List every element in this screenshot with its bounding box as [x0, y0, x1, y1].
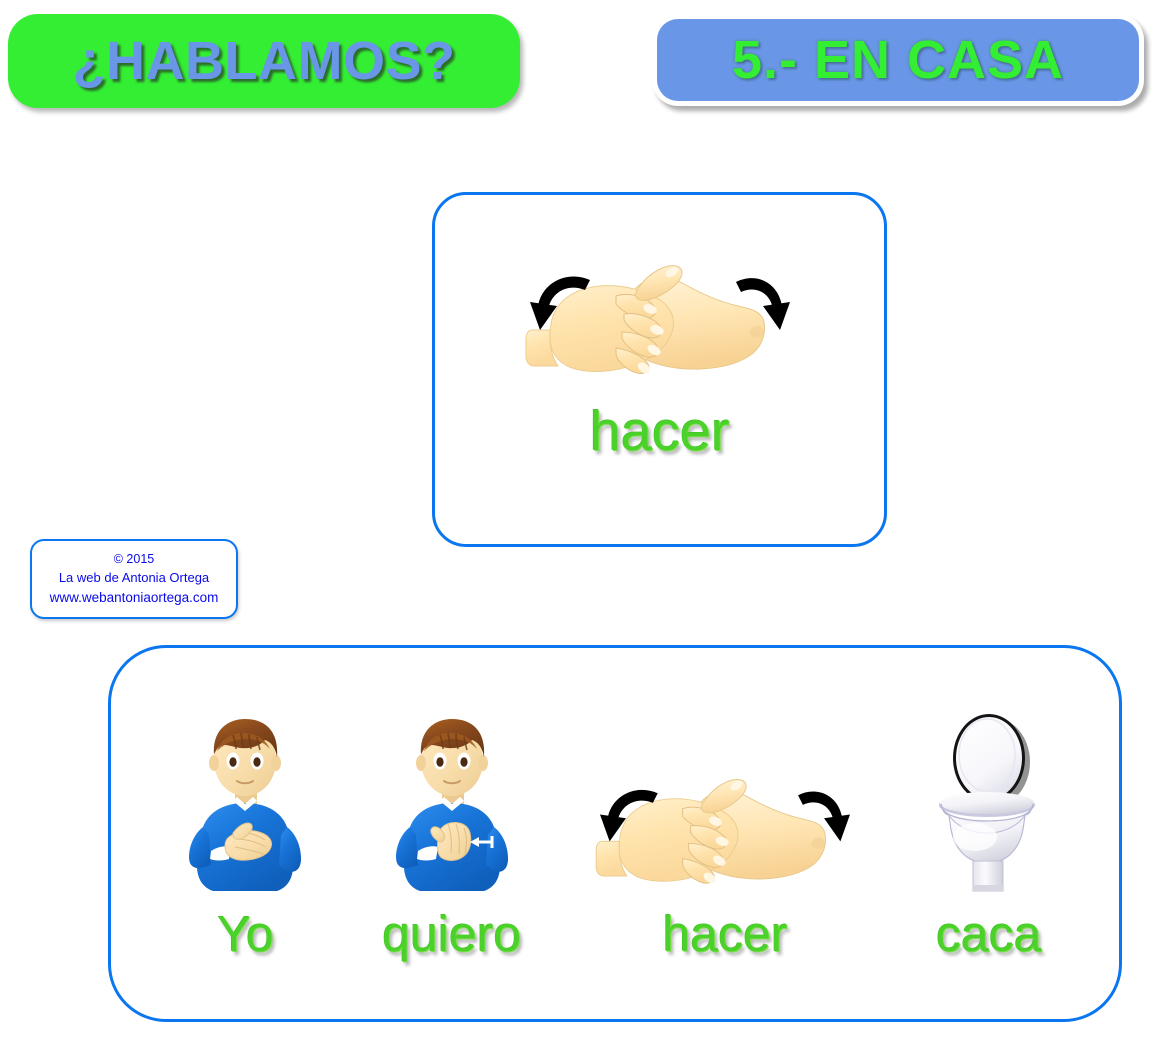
toilet-lid-up-icon	[929, 705, 1049, 901]
vocabulary-card[interactable]: hacer	[432, 192, 887, 547]
two-hands-rotating-svg	[524, 262, 796, 392]
banner-hablamos-label: ¿HABLAMOS?	[73, 30, 456, 92]
vocabulary-card-caption: hacer	[589, 398, 729, 463]
credit-website[interactable]: www.webantoniaortega.com	[50, 588, 219, 607]
two-hands-rotating-icon	[594, 705, 856, 901]
boy-hand-on-chest-arrow-icon	[388, 705, 516, 901]
two-hands-rotating-svg-2	[594, 776, 856, 901]
sentence-cell-caption: Yo	[217, 905, 274, 963]
credit-author: La web de Antonia Ortega	[59, 569, 209, 587]
sentence-cell-caption: caca	[936, 905, 1042, 963]
sentence-cell-caca[interactable]: caca	[929, 705, 1049, 963]
sentence-strip: Yo	[108, 645, 1122, 1022]
boy-hand-on-chest-icon	[181, 705, 309, 901]
sentence-cell-hacer[interactable]: hacer	[594, 705, 856, 963]
banner-unit-fill: 5.- EN CASA	[657, 19, 1139, 101]
sentence-cell-caption: quiero	[382, 905, 521, 963]
banner-unit-label: 5.- EN CASA	[732, 29, 1064, 91]
sentence-cell-caption: hacer	[662, 905, 787, 963]
boy-hand-on-chest-svg	[181, 711, 309, 901]
sentence-cell-quiero[interactable]: quiero	[382, 705, 521, 963]
banner-hablamos: ¿HABLAMOS?	[8, 14, 520, 108]
boy-hand-on-chest-arrow-svg	[388, 711, 516, 901]
two-hands-rotating-icon	[524, 262, 796, 392]
credit-box: © 2015 La web de Antonia Ortega www.weba…	[30, 539, 238, 619]
credit-copyright: © 2015	[114, 551, 155, 569]
banner-unit: 5.- EN CASA	[652, 14, 1144, 106]
toilet-lid-up-svg	[929, 711, 1049, 901]
sentence-cell-yo[interactable]: Yo	[181, 705, 309, 963]
